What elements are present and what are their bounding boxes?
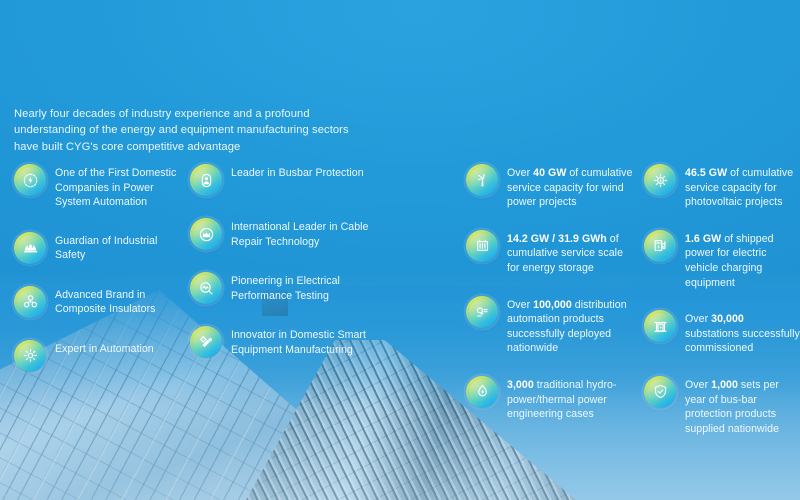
intro-paragraph: Nearly four decades of industry experien…: [14, 106, 364, 155]
list-item[interactable]: Guardian of Industrial Safety: [14, 232, 189, 264]
list-item[interactable]: One of the First Domestic Companies in P…: [14, 164, 189, 210]
list-item[interactable]: 1.6 GW of shipped power for electric veh…: [644, 230, 800, 290]
solar-sun-icon: [644, 164, 676, 196]
gear-automation-icon: [14, 340, 46, 372]
stat-value: 100,000: [533, 299, 572, 311]
ev-charger-icon: [644, 230, 676, 262]
hard-hat-icon: [14, 232, 46, 264]
list-item[interactable]: Pioneering in Electrical Performance Tes…: [190, 272, 375, 304]
stat-value: 14.2 GW / 31.9 GWh: [507, 233, 607, 245]
waveform-magnifier-icon: [190, 272, 222, 304]
smart-equipment-icon: [190, 326, 222, 358]
gear-lightning-icon: [14, 164, 46, 196]
list-item[interactable]: 14.2 GW / 31.9 GWh of cumulative service…: [466, 230, 638, 276]
list-item[interactable]: Over 40 GW of cumulative service capacit…: [466, 164, 638, 210]
content-layer: Nearly four decades of industry experien…: [0, 0, 800, 500]
list-item-label: Advanced Brand in Composite Insulators: [55, 286, 189, 317]
list-item-label: Innovator in Domestic Smart Equipment Ma…: [231, 326, 375, 357]
substation-icon: [644, 310, 676, 342]
stat-value: 3,000: [507, 379, 534, 391]
list-item-label: 46.5 GW of cumulative service capacity f…: [685, 164, 800, 210]
list-item[interactable]: 46.5 GW of cumulative service capacity f…: [644, 164, 800, 210]
stat-suffix: substations successfully commissioned: [685, 328, 800, 355]
list-item[interactable]: Expert in Automation: [14, 340, 189, 372]
stat-value: 1,000: [711, 379, 738, 391]
list-item-label: 3,000 traditional hydro-power/thermal po…: [507, 376, 638, 422]
distribution-automation-icon: [466, 296, 498, 328]
list-item-label: Expert in Automation: [55, 340, 154, 357]
list-item[interactable]: Leader in Busbar Protection: [190, 164, 375, 196]
stat-prefix: Over: [507, 299, 533, 311]
stat-value: 1.6 GW: [685, 233, 721, 245]
statistics-column-2: 46.5 GW of cumulative service capacity f…: [644, 164, 800, 456]
list-item[interactable]: Advanced Brand in Composite Insulators: [14, 286, 189, 318]
stat-value: 30,000: [711, 313, 744, 325]
stat-value: 46.5 GW: [685, 167, 727, 179]
list-item[interactable]: 3,000 traditional hydro-power/thermal po…: [466, 376, 638, 422]
list-item-label: International Leader in Cable Repair Tec…: [231, 218, 375, 249]
hydro-power-drop-icon: [466, 376, 498, 408]
list-item[interactable]: Innovator in Domestic Smart Equipment Ma…: [190, 326, 375, 358]
crown-badge-icon: [190, 218, 222, 250]
list-item-label: Guardian of Industrial Safety: [55, 232, 189, 263]
stat-prefix: Over: [685, 313, 711, 325]
list-item-label: One of the First Domestic Companies in P…: [55, 164, 189, 210]
wind-turbine-icon: [466, 164, 498, 196]
list-item-label: Over 100,000 distribution automation pro…: [507, 296, 638, 356]
list-item-label: 14.2 GW / 31.9 GWh of cumulative service…: [507, 230, 638, 276]
list-item[interactable]: Over 30,000 substations successfully com…: [644, 310, 800, 356]
stat-value: 40 GW: [533, 167, 566, 179]
qualifications-column-2: Leader in Busbar Protection Internationa…: [190, 164, 375, 380]
list-item-label: Pioneering in Electrical Performance Tes…: [231, 272, 375, 303]
insulator-icon: [14, 286, 46, 318]
list-item-label: Over 40 GW of cumulative service capacit…: [507, 164, 638, 210]
stat-prefix: Over: [685, 379, 711, 391]
stat-prefix: Over: [507, 167, 533, 179]
statistics-column-1: Over 40 GW of cumulative service capacit…: [466, 164, 638, 442]
shield-check-icon: [644, 376, 676, 408]
qualifications-column-1: One of the First Domestic Companies in P…: [14, 164, 189, 394]
list-item[interactable]: Over 1,000 sets per year of bus-bar prot…: [644, 376, 800, 436]
list-item-label: Leader in Busbar Protection: [231, 164, 364, 181]
list-item-label: Over 1,000 sets per year of bus-bar prot…: [685, 376, 800, 436]
battery-storage-icon: [466, 230, 498, 262]
busbar-shield-icon: [190, 164, 222, 196]
list-item-label: 1.6 GW of shipped power for electric veh…: [685, 230, 800, 290]
list-item[interactable]: International Leader in Cable Repair Tec…: [190, 218, 375, 250]
list-item[interactable]: Over 100,000 distribution automation pro…: [466, 296, 638, 356]
list-item-label: Over 30,000 substations successfully com…: [685, 310, 800, 356]
